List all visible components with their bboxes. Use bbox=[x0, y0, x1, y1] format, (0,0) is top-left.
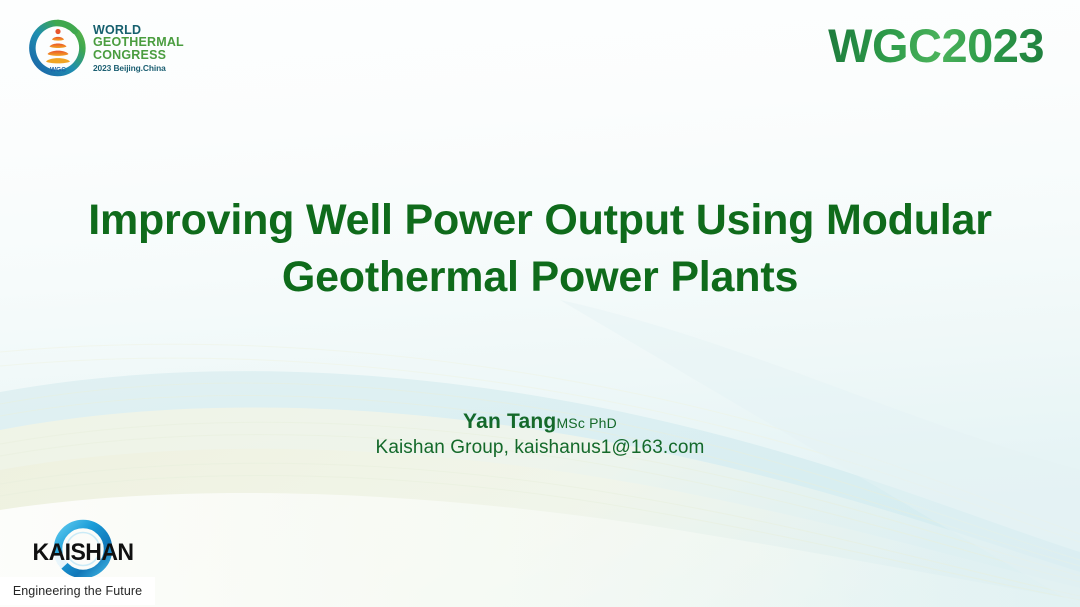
wgc-congress-logo: WGC WORLD GEOTHERMAL CONGRESS 2023 Beiji… bbox=[29, 16, 169, 80]
author-block: Yan TangMSc PhD Kaishan Group, kaishanus… bbox=[0, 410, 1080, 459]
kaishan-tagline-band: Engineering the Future bbox=[0, 577, 155, 605]
title-line-1: Improving Well Power Output Using Modula… bbox=[18, 192, 1062, 249]
kaishan-wordmark: KAISHAN bbox=[23, 539, 142, 567]
title-line-2: Geothermal Power Plants bbox=[18, 249, 1062, 306]
author-degrees: MSc PhD bbox=[556, 415, 617, 431]
presentation-slide: WGC WORLD GEOTHERMAL CONGRESS 2023 Beiji… bbox=[0, 0, 1080, 607]
wgc-line-congress: CONGRESS bbox=[93, 49, 184, 62]
event-mark-wgc2023: WGC2023 bbox=[828, 18, 1044, 73]
author-name: Yan Tang bbox=[463, 410, 556, 433]
page-title: Improving Well Power Output Using Modula… bbox=[0, 192, 1080, 306]
author-name-row: Yan TangMSc PhD bbox=[0, 410, 1080, 434]
wgc-emblem-icon: WGC bbox=[29, 19, 87, 77]
author-affiliation: Kaishan Group, kaishanus1@163.com bbox=[0, 437, 1080, 459]
wgc-wordmark: WORLD GEOTHERMAL CONGRESS 2023 Beijing.C… bbox=[93, 24, 184, 73]
kaishan-tagline: Engineering the Future bbox=[13, 584, 142, 598]
wgc-subtitle: 2023 Beijing.China bbox=[93, 64, 184, 73]
svg-text:WGC: WGC bbox=[50, 67, 66, 74]
kaishan-logo: KAISHAN bbox=[17, 518, 149, 580]
